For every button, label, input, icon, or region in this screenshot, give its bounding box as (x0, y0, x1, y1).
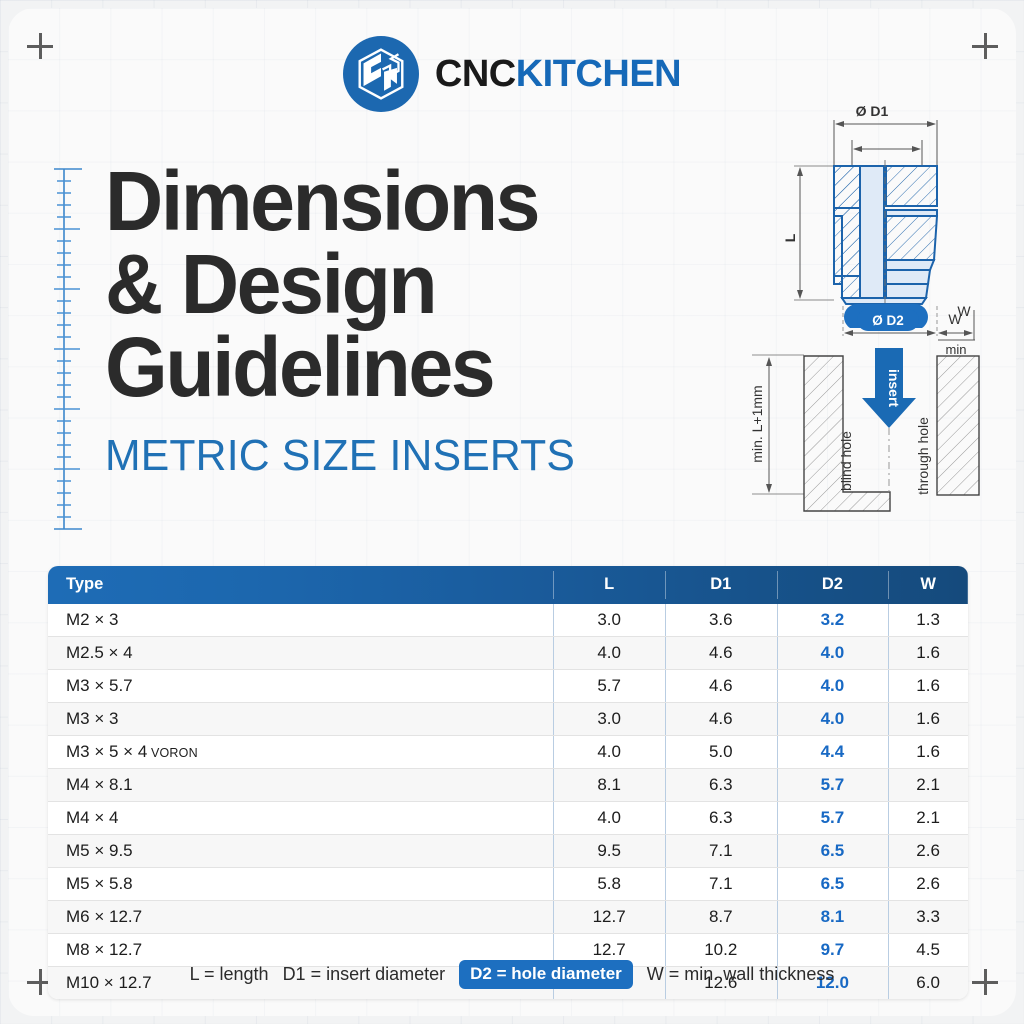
cell-l: 9.5 (553, 835, 665, 868)
hole-d2-badge: Ø D2 (857, 309, 919, 331)
table-row[interactable]: M2 × 33.03.63.21.3 (48, 604, 968, 637)
legend-d2-highlight: D2 = hole diameter (459, 960, 633, 989)
cell-d2: 4.0 (777, 703, 889, 736)
label-d1: Ø D1 (856, 103, 889, 119)
cell-type: M3 × 5 × 4 VORON (48, 736, 553, 769)
cell-d1: 7.1 (665, 868, 777, 901)
cell-type: M5 × 5.8 (48, 868, 553, 901)
label-min: min (946, 342, 967, 357)
hole-types-diagram: Ø D2 W min min. L+1mm insert blind hole … (742, 306, 1014, 536)
legend-l: L = length (190, 964, 269, 985)
svg-text:Ø D2: Ø D2 (872, 313, 904, 328)
cell-type: M6 × 12.7 (48, 901, 553, 934)
cell-w: 1.6 (888, 736, 968, 769)
column-header-type[interactable]: Type (48, 566, 553, 604)
page-subtitle: METRIC SIZE INSERTS (105, 431, 706, 481)
table-row[interactable]: M4 × 8.18.16.35.72.1 (48, 769, 968, 802)
column-header-l[interactable]: L (553, 566, 665, 604)
cell-d2: 5.7 (777, 802, 889, 835)
cell-l: 4.0 (553, 637, 665, 670)
legend-d1: D1 = insert diameter (283, 964, 446, 985)
label-through-hole: through hole (915, 417, 931, 495)
cell-w: 1.6 (888, 703, 968, 736)
legend-bar: L = length D1 = insert diameter D2 = hol… (0, 960, 1024, 989)
column-header-d2[interactable]: D2 (777, 566, 889, 604)
cell-type: M2.5 × 4 (48, 637, 553, 670)
cell-type-suffix: VORON (147, 746, 198, 760)
cell-d2: 6.5 (777, 868, 889, 901)
cell-d1: 4.6 (665, 703, 777, 736)
table-row[interactable]: M5 × 9.59.57.16.52.6 (48, 835, 968, 868)
table-row[interactable]: M2.5 × 44.04.64.01.6 (48, 637, 968, 670)
cell-d2: 5.7 (777, 769, 889, 802)
table-row[interactable]: M3 × 5.75.74.64.01.6 (48, 670, 968, 703)
table-row[interactable]: M5 × 5.85.87.16.52.6 (48, 868, 968, 901)
cell-l: 3.0 (553, 604, 665, 637)
label-w-hole: W (948, 311, 962, 327)
column-header-d1[interactable]: D1 (665, 566, 777, 604)
cell-w: 2.1 (888, 802, 968, 835)
cell-d1: 7.1 (665, 835, 777, 868)
cell-d1: 6.3 (665, 769, 777, 802)
insert-cross-section-diagram: Ø D1 L (782, 98, 1012, 328)
cell-d2: 4.0 (777, 637, 889, 670)
cell-w: 1.3 (888, 604, 968, 637)
cell-d1: 5.0 (665, 736, 777, 769)
legend-w: W = min. wall thickness (647, 964, 835, 985)
cell-l: 4.0 (553, 736, 665, 769)
cell-d2: 4.4 (777, 736, 889, 769)
brand-name-kitchen: KITCHEN (516, 53, 681, 96)
cell-d2: 8.1 (777, 901, 889, 934)
cell-l: 3.0 (553, 703, 665, 736)
cell-d1: 4.6 (665, 670, 777, 703)
table-header-row: Type L D1 D2 W (48, 566, 968, 604)
infographic-page: CNCKITCHEN (0, 0, 1024, 1024)
table-row[interactable]: M6 × 12.712.78.78.13.3 (48, 901, 968, 934)
cell-w: 2.1 (888, 769, 968, 802)
cell-type: M5 × 9.5 (48, 835, 553, 868)
table-row[interactable]: M4 × 44.06.35.72.1 (48, 802, 968, 835)
cnc-kitchen-cube-logo-icon (343, 36, 419, 112)
ruler-decoration-icon (52, 167, 92, 531)
cell-d1: 4.6 (665, 637, 777, 670)
cell-l: 12.7 (553, 901, 665, 934)
cell-type: M3 × 3 (48, 703, 553, 736)
cell-type: M4 × 4 (48, 802, 553, 835)
cell-w: 1.6 (888, 637, 968, 670)
title-block: Dimensions & Design Guidelines METRIC SI… (105, 160, 725, 481)
svg-text:insert: insert (886, 369, 902, 407)
cell-w: 2.6 (888, 835, 968, 868)
cell-d2: 6.5 (777, 835, 889, 868)
brand-name-cnc: CNC (435, 53, 516, 96)
cell-w: 3.3 (888, 901, 968, 934)
table-header: Type L D1 D2 W (48, 566, 968, 604)
label-depth: min. L+1mm (749, 385, 765, 462)
cell-d1: 8.7 (665, 901, 777, 934)
cell-l: 5.7 (553, 670, 665, 703)
cell-d1: 6.3 (665, 802, 777, 835)
table-row[interactable]: M3 × 5 × 4 VORON4.05.04.41.6 (48, 736, 968, 769)
cell-w: 2.6 (888, 868, 968, 901)
table-body: M2 × 33.03.63.21.3M2.5 × 44.04.64.01.6M3… (48, 604, 968, 999)
label-l: L (782, 233, 798, 242)
dimensions-table: Type L D1 D2 W M2 × 33.03.63.21.3M2.5 × … (48, 566, 968, 999)
insert-arrow-icon: insert (862, 348, 916, 428)
cell-d2: 4.0 (777, 670, 889, 703)
page-title: Dimensions & Design Guidelines (105, 160, 700, 409)
cell-l: 5.8 (553, 868, 665, 901)
label-blind-hole: blind hole (838, 431, 854, 491)
cell-l: 8.1 (553, 769, 665, 802)
cell-type: M4 × 8.1 (48, 769, 553, 802)
cell-type: M2 × 3 (48, 604, 553, 637)
table-row[interactable]: M3 × 33.04.64.01.6 (48, 703, 968, 736)
column-header-w[interactable]: W (888, 566, 968, 604)
cell-d2: 3.2 (777, 604, 889, 637)
cell-type: M3 × 5.7 (48, 670, 553, 703)
cell-w: 1.6 (888, 670, 968, 703)
cell-l: 4.0 (553, 802, 665, 835)
brand-wordmark: CNCKITCHEN (435, 53, 681, 96)
cell-d1: 3.6 (665, 604, 777, 637)
